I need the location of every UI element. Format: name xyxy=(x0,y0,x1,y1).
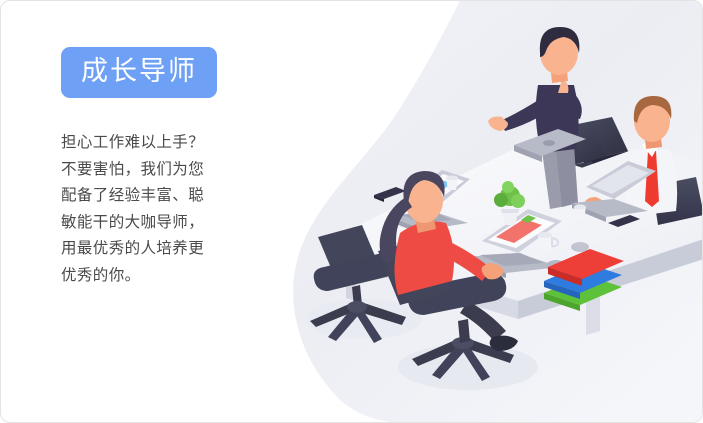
presenter-hand xyxy=(488,117,508,132)
computer-mouse xyxy=(571,242,589,252)
coffee-mug xyxy=(574,205,586,220)
plant-leaf xyxy=(502,181,514,193)
section-title-badge: 成长导师 xyxy=(61,47,217,98)
plant-leaf xyxy=(511,194,525,208)
text-column: 成长导师 担心工作难以上手？ 不要害怕，我们为您 配备了经验丰富、聪 敏能干的大… xyxy=(61,47,271,289)
office-illustration xyxy=(256,1,703,423)
promo-card: 成长导师 担心工作难以上手？ 不要害怕，我们为您 配备了经验丰富、聪 敏能干的大… xyxy=(0,0,703,423)
plant-leaf xyxy=(494,193,508,207)
woman-shoe xyxy=(490,336,518,351)
smartphone xyxy=(374,187,406,202)
coffee-mug xyxy=(446,176,458,191)
woman-chair-post xyxy=(458,319,470,343)
description-paragraph: 担心工作难以上手？ 不要害怕，我们为您 配备了经验丰富、聪 敏能干的大咖导师， … xyxy=(61,130,271,289)
